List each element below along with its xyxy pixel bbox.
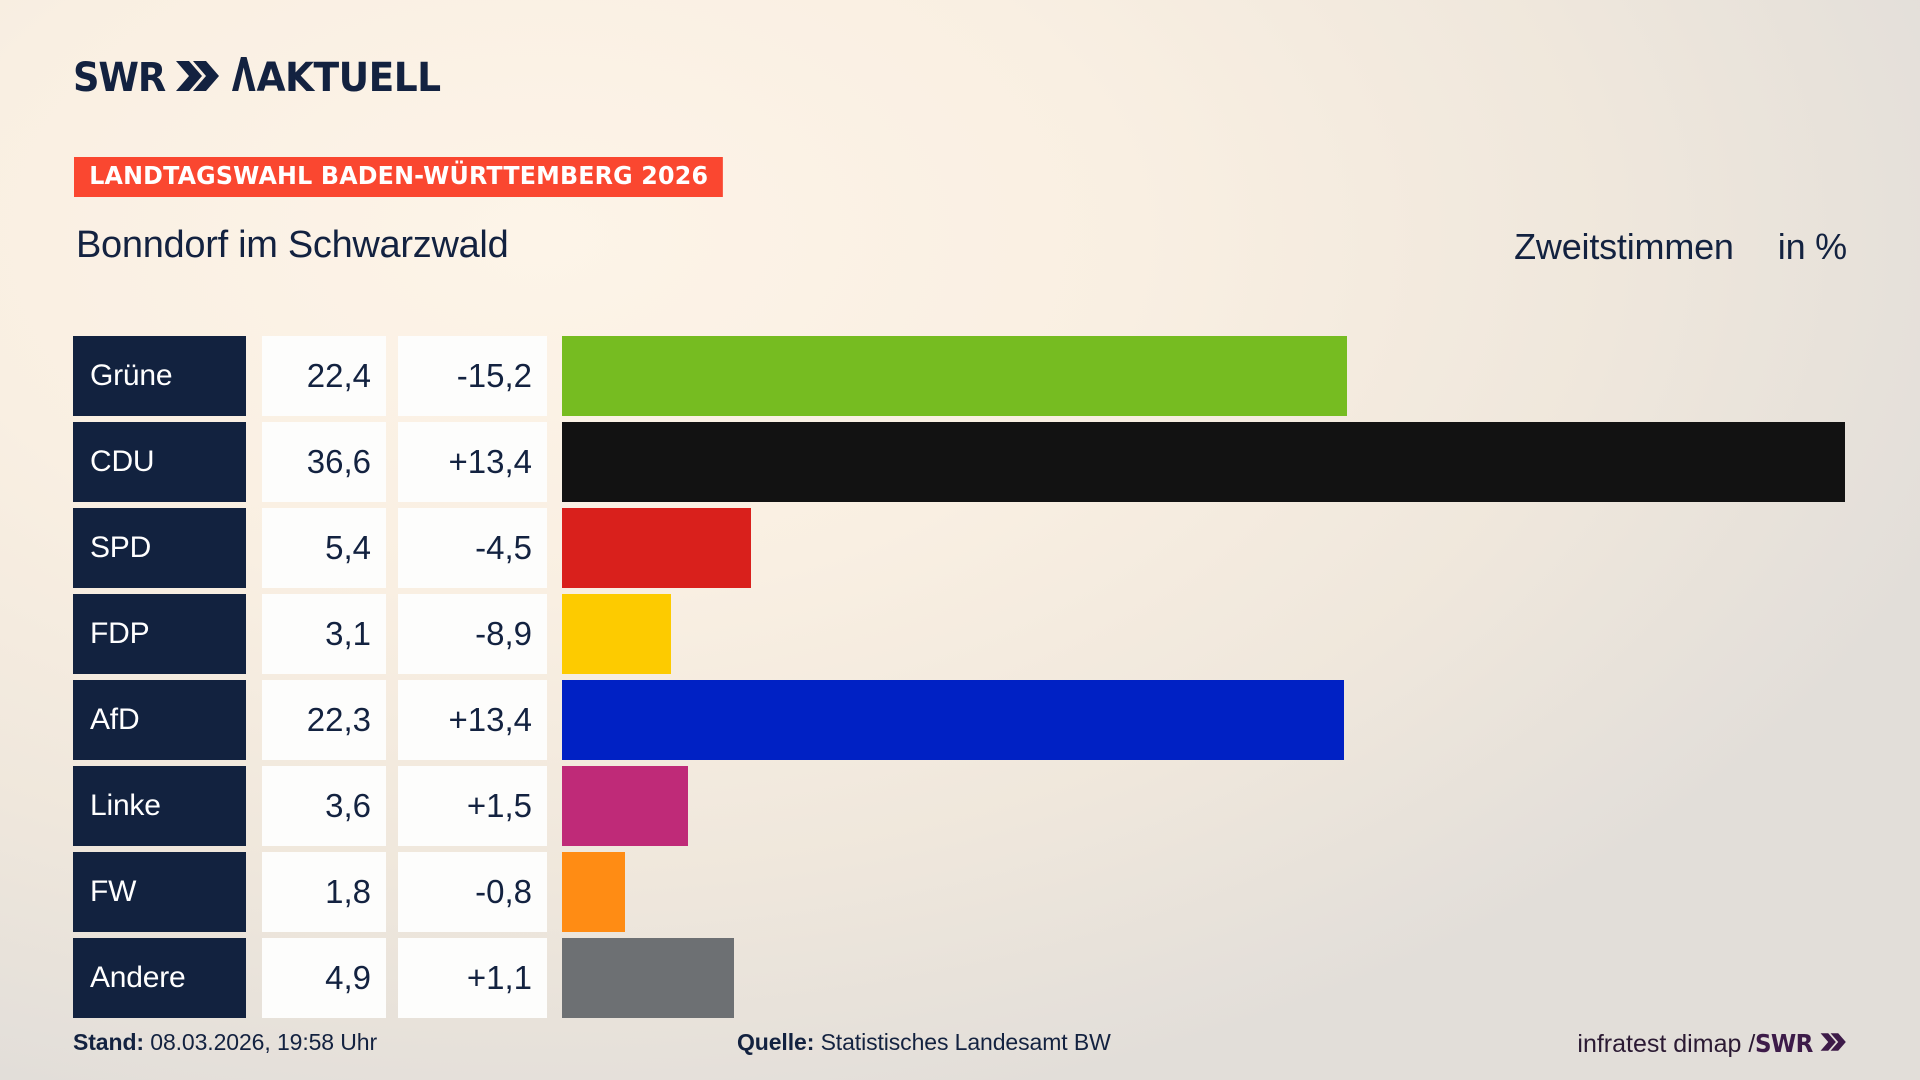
party-change-value: -0,8: [398, 852, 547, 932]
unit-label: in %: [1778, 226, 1847, 268]
stand-info: Stand: 08.03.2026, 19:58 Uhr: [73, 1029, 377, 1056]
party-share-value: 22,4: [262, 336, 386, 416]
swr-aktuell-logo: SWR AKTUELL: [73, 57, 454, 98]
table-row: Andere 4,9 +1,1: [73, 935, 1847, 1021]
stand-value: 08.03.2026, 19:58 Uhr: [150, 1029, 377, 1055]
party-bar: [562, 508, 751, 588]
table-row: CDU 36,6 +13,4: [73, 419, 1847, 505]
party-share-value: 1,8: [262, 852, 386, 932]
party-label: Linke: [73, 766, 246, 846]
credit-swr-wordmark: SWR: [1755, 1029, 1813, 1058]
region-name: Bonndorf im Schwarzwald: [76, 224, 508, 267]
table-row: FDP 3,1 -8,9: [73, 591, 1847, 677]
lambda-a-glyph: [232, 57, 256, 98]
party-change-value: +1,1: [398, 938, 547, 1018]
footer: Stand: 08.03.2026, 19:58 Uhr Quelle: Sta…: [0, 1029, 1920, 1069]
table-row: Linke 3,6 +1,5: [73, 763, 1847, 849]
election-result-graphic: SWR AKTUELL LANDTAGSWAHL BADEN-WÜRTTEMBE…: [0, 0, 1920, 1080]
party-bar: [562, 680, 1344, 760]
source-info: Quelle: Statistisches Landesamt BW: [737, 1029, 1111, 1056]
swr-wordmark: SWR: [73, 58, 165, 98]
party-share-value: 3,1: [262, 594, 386, 674]
table-row: FW 1,8 -0,8: [73, 849, 1847, 935]
party-bar: [562, 938, 734, 1018]
table-row: SPD 5,4 -4,5: [73, 505, 1847, 591]
party-change-value: -15,2: [398, 336, 547, 416]
double-chevron-right-icon: [1820, 1030, 1847, 1059]
table-row: AfD 22,3 +13,4: [73, 677, 1847, 763]
party-label: FDP: [73, 594, 246, 674]
stand-label: Stand:: [73, 1029, 144, 1055]
party-share-value: 3,6: [262, 766, 386, 846]
vote-type-header: Zweitstimmen in %: [1514, 226, 1847, 268]
party-change-value: +1,5: [398, 766, 547, 846]
table-row: Grüne 22,4 -15,2: [73, 333, 1847, 419]
party-label: AfD: [73, 680, 246, 760]
party-share-value: 5,4: [262, 508, 386, 588]
election-title-banner: LANDTAGSWAHL BADEN-WÜRTTEMBERG 2026: [74, 157, 722, 197]
party-share-value: 4,9: [262, 938, 386, 1018]
party-label: Grüne: [73, 336, 246, 416]
credit-institute: infratest dimap /: [1577, 1030, 1755, 1059]
party-change-value: +13,4: [398, 422, 547, 502]
party-label: FW: [73, 852, 246, 932]
party-bar: [562, 852, 625, 932]
party-share-value: 36,6: [262, 422, 386, 502]
party-share-value: 22,3: [262, 680, 386, 760]
results-chart: Grüne 22,4 -15,2 CDU 36,6 +13,4 SPD 5,4 …: [73, 333, 1847, 1021]
quelle-value: Statistisches Landesamt BW: [821, 1029, 1111, 1055]
party-change-value: +13,4: [398, 680, 547, 760]
quelle-label: Quelle:: [737, 1029, 814, 1055]
party-change-value: -4,5: [398, 508, 547, 588]
aktuell-wordmark: AKTUELL: [232, 57, 441, 98]
party-label: CDU: [73, 422, 246, 502]
party-bar: [562, 766, 688, 846]
party-bar: [562, 336, 1347, 416]
party-label: SPD: [73, 508, 246, 588]
double-chevron-right-icon: [175, 59, 221, 97]
party-bar: [562, 594, 671, 674]
party-change-value: -8,9: [398, 594, 547, 674]
aktuell-text: AKTUELL: [257, 58, 441, 98]
credit-info: infratest dimap / SWR: [1577, 1029, 1847, 1059]
party-label: Andere: [73, 938, 246, 1018]
party-bar: [562, 422, 1845, 502]
vote-type-label: Zweitstimmen: [1514, 226, 1734, 268]
